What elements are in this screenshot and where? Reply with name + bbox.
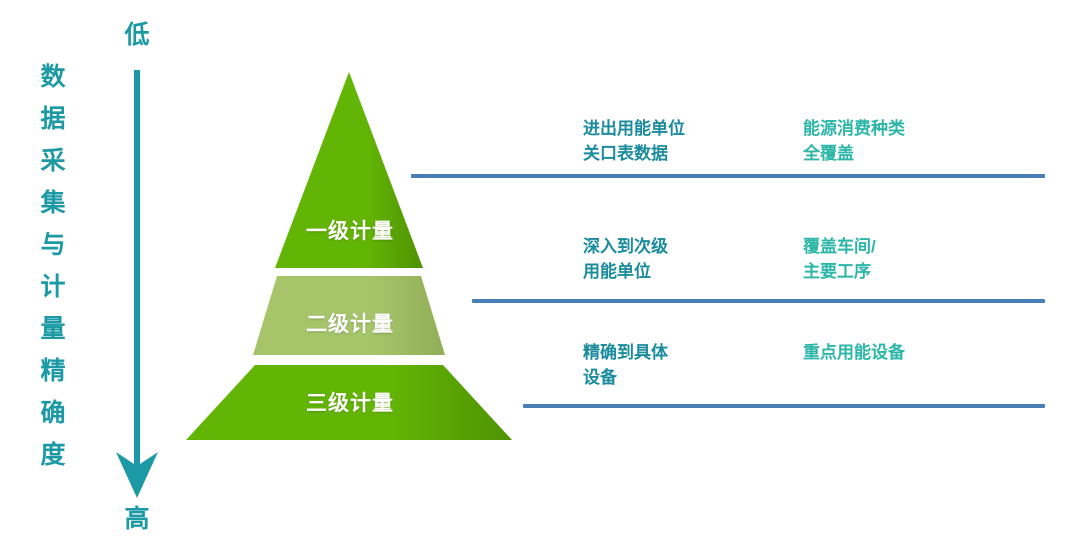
descriptor-row-3-right: 重点用能设备 (803, 340, 1033, 365)
descriptor-rows: 进出用能单位 关口表数据 能源消费种类 全覆盖 深入到次级 用能单位 覆盖车间/… (0, 0, 1080, 557)
descriptor-row-3-left: 精确到具体 设备 (583, 340, 793, 390)
descriptor-row-1-right: 能源消费种类 全覆盖 (803, 116, 1033, 166)
descriptor-row-2-right: 覆盖车间/ 主要工序 (803, 234, 1033, 284)
descriptor-row-2-left: 深入到次级 用能单位 (583, 234, 793, 284)
descriptor-rule-2 (472, 299, 1045, 303)
descriptor-row-1-left: 进出用能单位 关口表数据 (583, 116, 793, 166)
descriptor-rule-1 (411, 174, 1045, 178)
descriptor-rule-3 (523, 404, 1045, 408)
diagram-canvas: 数 据 采 集 与 计 量 精 确 度 低 高 (0, 0, 1080, 557)
